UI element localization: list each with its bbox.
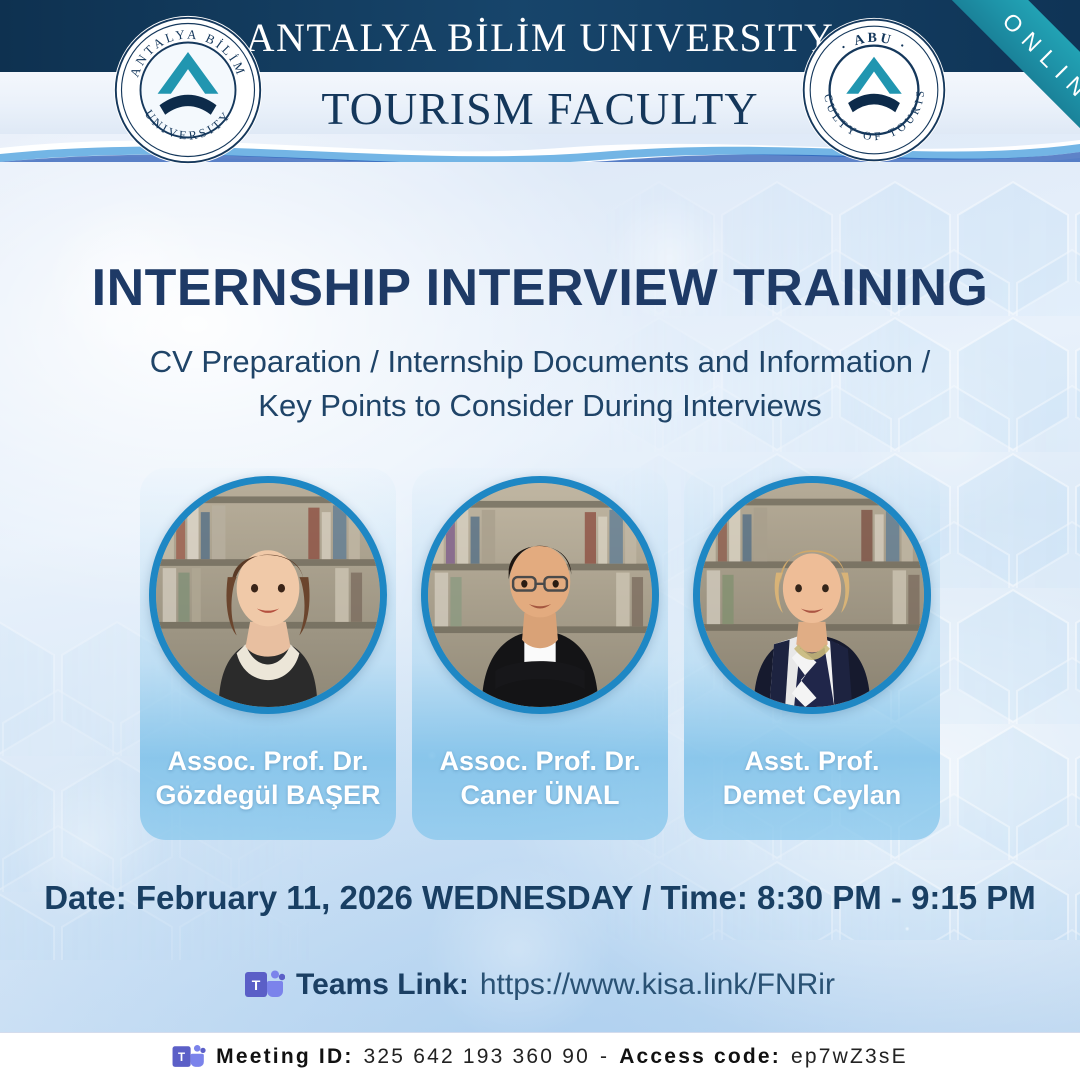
subtitle-line-2: Key Points to Consider During Interviews — [60, 384, 1020, 428]
microsoft-teams-icon: T — [245, 968, 285, 1002]
speaker-title: Assoc. Prof. Dr. — [155, 744, 380, 778]
microsoft-teams-icon: T — [172, 1043, 206, 1071]
poster-canvas: ANTALYA BİLİM UNIVERSITY TOURISM FACULTY… — [0, 0, 1080, 1080]
speaker-card: Assoc. Prof. Dr. Gözdegül BAŞER — [140, 468, 396, 840]
meeting-id-value[interactable]: 325 642 193 360 90 — [364, 1045, 590, 1069]
subtitle-line-1: CV Preparation / Internship Documents an… — [60, 340, 1020, 384]
speaker-fullname: Caner ÜNAL — [439, 778, 640, 812]
access-code-value[interactable]: ep7wZ3sE — [791, 1045, 908, 1069]
avatar — [693, 476, 931, 714]
avatar — [421, 476, 659, 714]
event-datetime: Date: February 11, 2026 WEDNESDAY / Time… — [0, 879, 1080, 917]
speaker-title: Assoc. Prof. Dr. — [439, 744, 640, 778]
speaker-name: Assoc. Prof. Dr. Caner ÜNAL — [433, 744, 646, 812]
speaker-name: Assoc. Prof. Dr. Gözdegül BAŞER — [149, 744, 386, 812]
speaker-list: Assoc. Prof. Dr. Gözdegül BAŞER — [0, 468, 1080, 840]
speaker-photo-caner-unal — [428, 483, 652, 707]
speaker-title: Asst. Prof. — [723, 744, 902, 778]
access-code-label: Access code: — [619, 1045, 781, 1069]
speaker-card: Asst. Prof. Demet Ceylan — [684, 468, 940, 840]
speaker-fullname: Demet Ceylan — [723, 778, 902, 812]
svg-text:T: T — [252, 977, 261, 993]
teams-link-url[interactable]: https://www.kisa.link/FNRir — [480, 968, 835, 1002]
meeting-info-bar: T Meeting ID: 325 642 193 360 90 - Acces… — [0, 1032, 1080, 1080]
speaker-photo-gozdegul-baser — [156, 483, 380, 707]
meeting-id-label: Meeting ID: — [216, 1045, 353, 1069]
page-subtitle: CV Preparation / Internship Documents an… — [60, 340, 1020, 428]
abu-tourism-faculty-seal-icon: · ABU · FACULTY OF TOURISM — [800, 16, 948, 164]
teams-link-label: Teams Link: — [296, 968, 469, 1002]
speaker-card: Assoc. Prof. Dr. Caner ÜNAL — [412, 468, 668, 840]
svg-text:T: T — [178, 1052, 185, 1064]
separator-dash: - — [600, 1045, 609, 1069]
speaker-photo-demet-ceylan — [700, 483, 924, 707]
teams-link-row[interactable]: T Teams Link: https://www.kisa.link/FNRi… — [0, 968, 1080, 1002]
abu-university-seal-icon: ANTALYA BİLİM UNIVERSITY — [112, 14, 264, 166]
speaker-fullname: Gözdegül BAŞER — [155, 778, 380, 812]
page-title: INTERNSHIP INTERVIEW TRAINING — [0, 258, 1080, 318]
speaker-name: Asst. Prof. Demet Ceylan — [717, 744, 908, 812]
avatar — [149, 476, 387, 714]
